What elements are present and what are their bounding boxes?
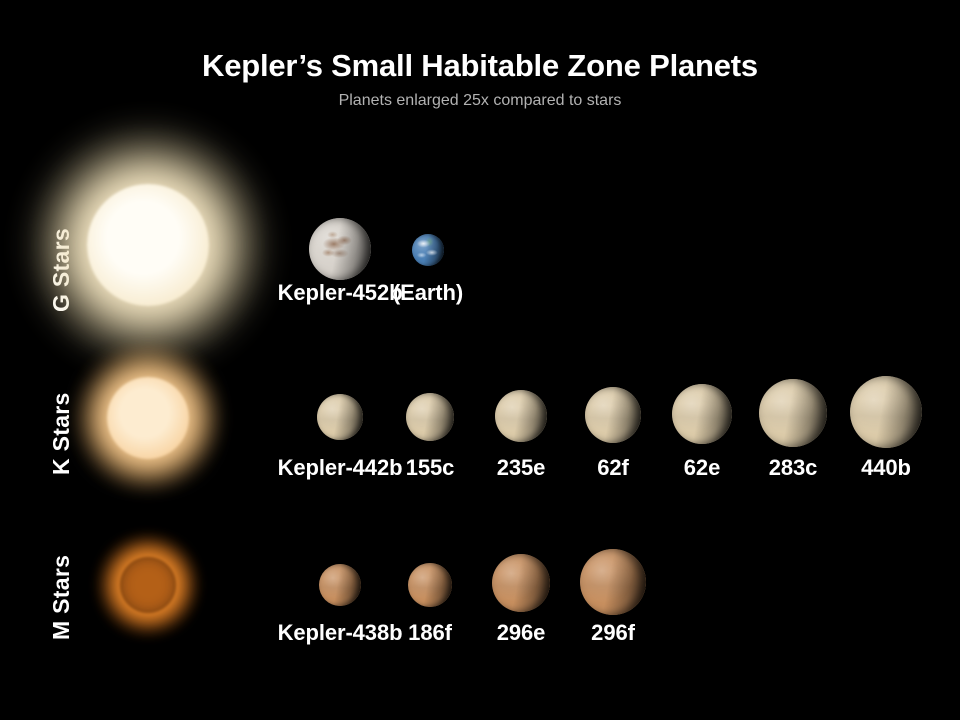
row-label-m-stars: M Stars: [48, 555, 75, 640]
planet-label-kepler-283c: 283c: [769, 455, 818, 481]
planet-label-kepler-452b: Kepler-452b: [278, 280, 403, 306]
planet-shading: [580, 549, 646, 615]
planet-label-kepler-62e: 62e: [684, 455, 720, 481]
planet-kepler-186f: [408, 563, 452, 607]
planet-shading: [406, 393, 454, 441]
planet-kepler-438b: [319, 564, 361, 606]
page-subtitle: Planets enlarged 25x compared to stars: [0, 92, 960, 110]
planet-kepler-235e: [495, 390, 547, 442]
planet-label-kepler-186f: 186f: [408, 620, 452, 646]
planet-kepler-283c: [759, 379, 827, 447]
infographic-canvas: Kepler’s Small Habitable Zone Planets Pl…: [0, 0, 960, 720]
planet-label-kepler-440b: 440b: [861, 455, 911, 481]
planet-shading: [759, 379, 827, 447]
planet-label-kepler-442b: Kepler-442b: [278, 455, 403, 481]
planet-shading: [408, 563, 452, 607]
planet-label-earth: (Earth): [393, 280, 463, 306]
planet-shading: [412, 234, 444, 266]
planet-shading: [585, 387, 641, 443]
planet-kepler-296e: [492, 554, 550, 612]
planet-kepler-62f: [585, 387, 641, 443]
planet-shading: [319, 564, 361, 606]
planet-shading: [309, 218, 371, 280]
planet-shading: [317, 394, 363, 440]
planet-kepler-440b: [850, 376, 922, 448]
planet-label-kepler-296f: 296f: [591, 620, 635, 646]
planet-kepler-442b: [317, 394, 363, 440]
planet-kepler-296f: [580, 549, 646, 615]
planet-label-kepler-235e: 235e: [497, 455, 546, 481]
page-title: Kepler’s Small Habitable Zone Planets: [0, 48, 960, 84]
planet-shading: [850, 376, 922, 448]
row-label-g-stars: G Stars: [48, 228, 75, 312]
planet-shading: [495, 390, 547, 442]
planet-shading: [672, 384, 732, 444]
planet-label-kepler-438b: Kepler-438b: [278, 620, 403, 646]
planet-label-kepler-62f: 62f: [597, 455, 629, 481]
planet-shading: [492, 554, 550, 612]
planet-kepler-452b: [309, 218, 371, 280]
planet-kepler-155c: [406, 393, 454, 441]
m-type-star: [120, 557, 176, 613]
k-type-star: [107, 377, 189, 459]
planet-label-kepler-296e: 296e: [497, 620, 546, 646]
g-type-star: [87, 184, 209, 306]
planet-earth: [412, 234, 444, 266]
row-label-k-stars: K Stars: [48, 392, 75, 475]
planet-kepler-62e: [672, 384, 732, 444]
planet-label-kepler-155c: 155c: [406, 455, 455, 481]
